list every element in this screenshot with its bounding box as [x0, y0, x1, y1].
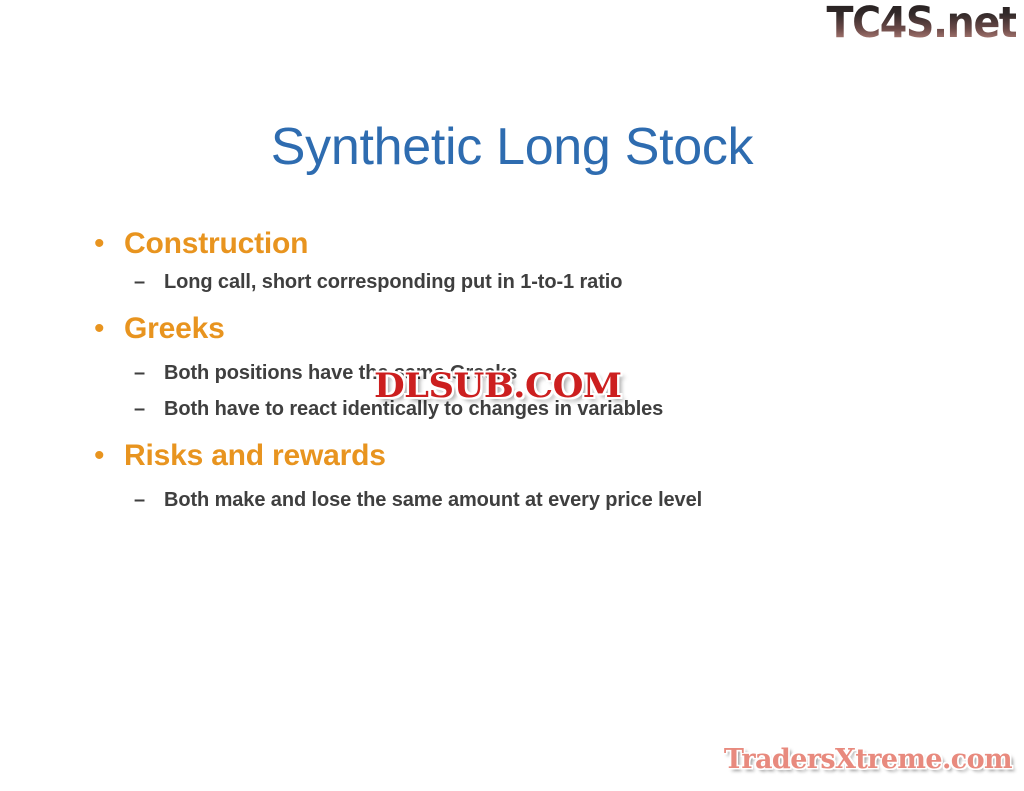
- sub-bullet-item: – Both make and lose the same amount at …: [86, 486, 786, 515]
- bullet-dot-icon: •: [86, 309, 124, 349]
- bullet-label: Risks and rewards: [124, 436, 386, 476]
- dash-icon: –: [134, 486, 164, 515]
- page-title: Synthetic Long Stock: [0, 118, 1024, 178]
- bullet-label: Greeks: [124, 309, 225, 349]
- sub-bullet-item: – Long call, short corresponding put in …: [86, 268, 786, 297]
- bullet-dot-icon: •: [86, 224, 124, 264]
- dlsub-watermark: DLSUB.COM: [374, 369, 622, 403]
- bullet-group-risks-and-rewards: • Risks and rewards – Both make and lose…: [86, 436, 786, 515]
- bullet-dot-icon: •: [86, 436, 124, 476]
- sub-bullet-text: Both make and lose the same amount at ev…: [164, 486, 702, 515]
- dash-icon: –: [134, 359, 164, 388]
- bullet-label: Construction: [124, 224, 308, 264]
- tc4s-site-logo: TC4S.net: [826, 2, 1016, 45]
- presentation-slide: TC4S.net Synthetic Long Stock • Construc…: [0, 0, 1024, 791]
- dash-icon: –: [134, 268, 164, 297]
- bullet-item-risks-and-rewards: • Risks and rewards: [86, 436, 786, 476]
- sub-bullet-text: Long call, short corresponding put in 1-…: [164, 268, 622, 297]
- tradersxtreme-watermark: TradersXtreme.com: [724, 746, 1012, 773]
- bullet-item-construction: • Construction: [86, 224, 786, 264]
- dash-icon: –: [134, 395, 164, 424]
- bullet-group-construction: • Construction – Long call, short corres…: [86, 224, 786, 297]
- bullet-item-greeks: • Greeks: [86, 309, 786, 349]
